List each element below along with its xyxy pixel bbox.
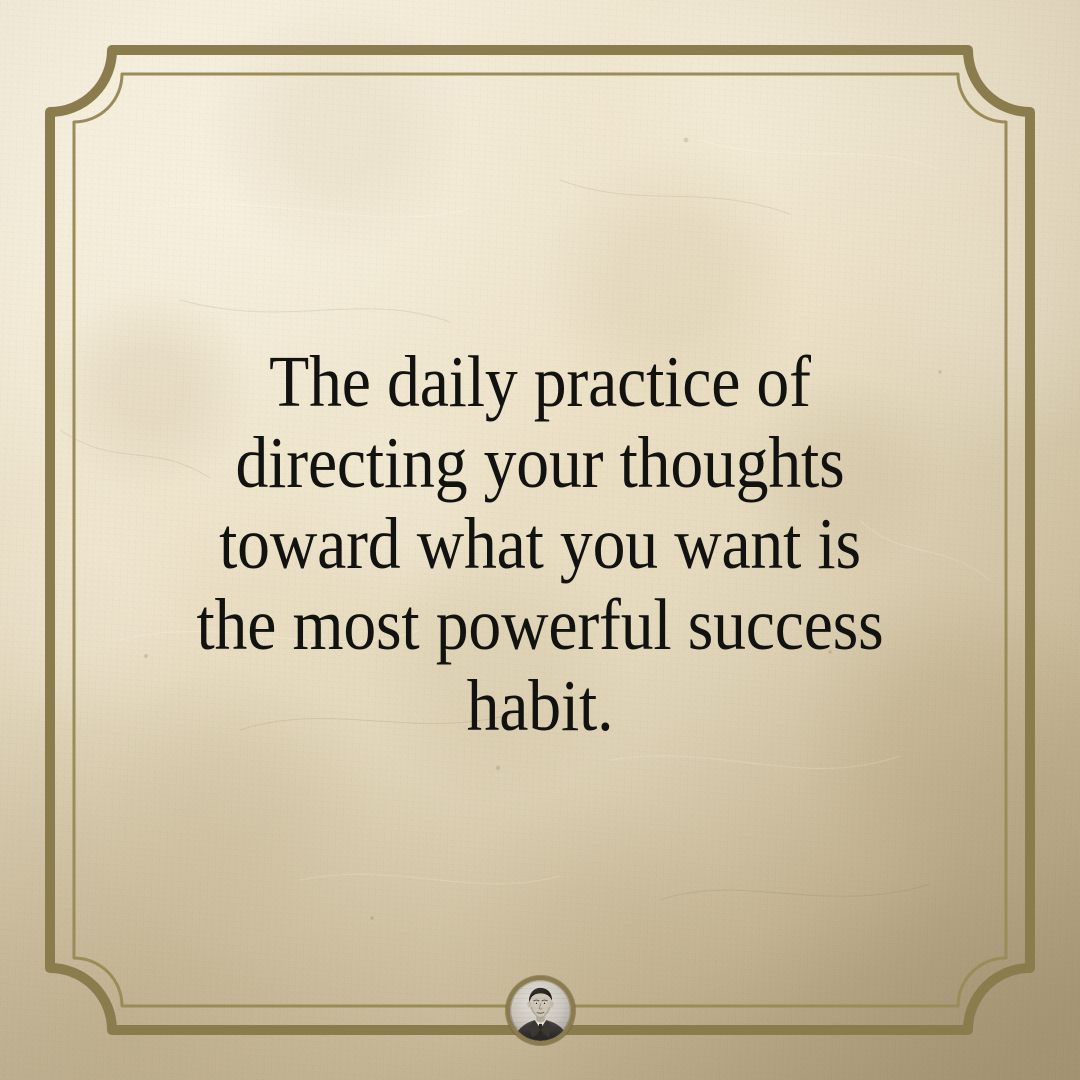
- portrait-image: [510, 980, 571, 1041]
- quote-card: The daily practice of directing your tho…: [0, 0, 1080, 1080]
- quote-line-4: the most powerful success: [149, 584, 932, 665]
- author-portrait-medallion: [506, 976, 575, 1045]
- quote-line-3: toward what you want is: [149, 503, 932, 584]
- quote-line-2: directing your thoughts: [149, 422, 932, 503]
- quote-line-1: The daily practice of: [149, 341, 932, 422]
- quote-line-5: habit.: [149, 665, 932, 746]
- quote-text: The daily practice of directing your tho…: [105, 341, 975, 746]
